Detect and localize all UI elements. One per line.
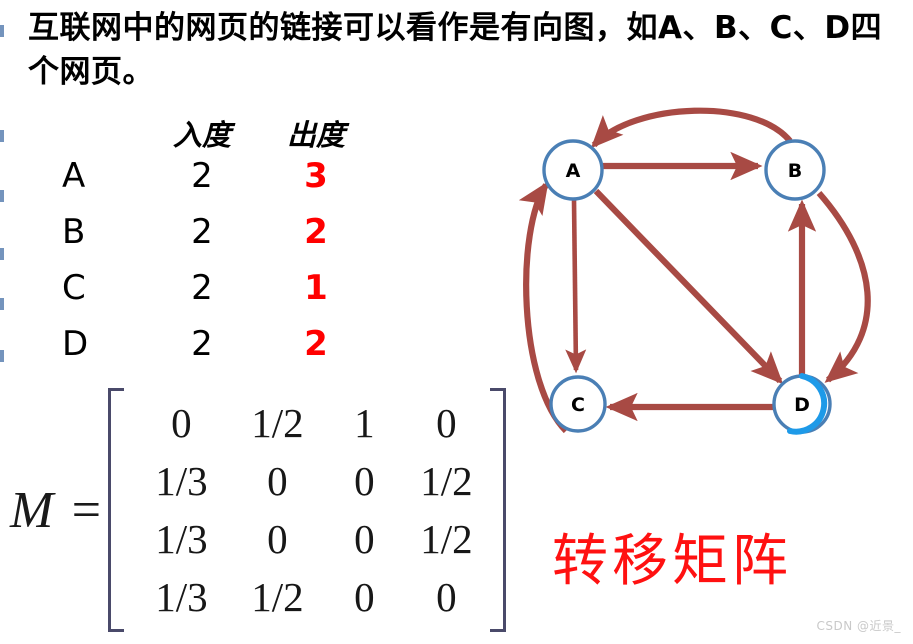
matrix-cell: 0 — [325, 568, 403, 626]
table-row: D 2 2 — [52, 324, 382, 380]
edge-tick — [0, 248, 4, 260]
matrix-cell: 1/2 — [403, 452, 489, 510]
matrix-cell: 0 — [133, 394, 229, 452]
degree-table: 入度 出度 A 2 3 B 2 2 C 2 1 D 2 2 — [52, 112, 382, 380]
edge-tick — [0, 190, 4, 202]
bracket-foot-right — [490, 629, 506, 632]
matrix-cell: 1 — [325, 394, 403, 452]
matrix-cell: 1/2 — [229, 394, 325, 452]
header-in-degree: 入度 — [148, 112, 256, 154]
cell-node: C — [52, 268, 148, 308]
cell-node: B — [52, 212, 148, 252]
graph-node-a[interactable]: A — [544, 141, 602, 199]
cell-out-degree: 2 — [256, 212, 376, 252]
cell-in-degree: 2 — [148, 156, 256, 196]
matrix-cell: 1/3 — [133, 568, 229, 626]
table-row: B 2 2 — [52, 212, 382, 268]
edge-tick — [0, 298, 4, 310]
matrix-cell: 0 — [229, 510, 325, 568]
table-row: A 2 3 — [52, 156, 382, 212]
matrix-cell: 0 — [325, 452, 403, 510]
matrix-cell: 1/2 — [403, 510, 489, 568]
matrix-cell: 0 — [403, 394, 489, 452]
edge-tick — [0, 25, 4, 37]
matrix-cell: 1/2 — [229, 568, 325, 626]
csdn-watermark: CSDN @近景_ — [816, 617, 901, 634]
matrix-cell: 0 — [229, 452, 325, 510]
table-row: C 2 1 — [52, 268, 382, 324]
node-label-c: C — [571, 394, 585, 416]
edge-a-to-c — [574, 200, 576, 370]
cell-in-degree: 2 — [148, 212, 256, 252]
matrix-grid: 0 1/2 1 0 1/3 0 0 1/2 1/3 0 0 1/2 1/3 1/… — [133, 394, 489, 626]
matrix-cell: 1/3 — [133, 510, 229, 568]
table-header-row: 入度 出度 — [52, 112, 382, 156]
transition-matrix: M = 0 1/2 1 0 1/3 0 0 1/2 1/3 0 0 1/2 1/… — [10, 388, 506, 632]
matrix-cell: 0 — [325, 510, 403, 568]
node-label-a: A — [566, 160, 581, 182]
graph-node-b[interactable]: B — [766, 141, 824, 199]
edge-b-to-a — [594, 111, 790, 145]
edge-b-to-d — [819, 193, 868, 380]
cell-in-degree: 2 — [148, 268, 256, 308]
cell-out-degree: 3 — [256, 156, 376, 196]
edge-tick — [0, 350, 4, 362]
cell-out-degree: 1 — [256, 268, 376, 308]
graph-node-d[interactable]: D — [774, 376, 830, 432]
header-out-degree: 出度 — [256, 112, 376, 154]
slide-canvas: 互联网中的网页的链接可以看作是有向图，如A、B、C、D四个网页。 入度 出度 A… — [0, 0, 913, 644]
matrix-cell: 1/3 — [133, 452, 229, 510]
matrix-cell: 0 — [403, 568, 489, 626]
node-label-d: D — [794, 394, 810, 416]
cell-out-degree: 2 — [256, 324, 376, 364]
cell-node: D — [52, 324, 148, 364]
transition-matrix-caption: 转移矩阵 — [552, 516, 792, 597]
directed-graph: A B C D — [490, 62, 910, 452]
cell-in-degree: 2 — [148, 324, 256, 364]
graph-node-c[interactable]: C — [551, 377, 605, 431]
edge-a-to-d — [596, 191, 780, 381]
node-label-b: B — [788, 160, 802, 182]
matrix-bracket: 0 1/2 1 0 1/3 0 0 1/2 1/3 0 0 1/2 1/3 1/… — [108, 388, 506, 632]
graph-svg: A B C D — [490, 62, 910, 452]
bracket-foot-left — [108, 629, 124, 632]
cell-node: A — [52, 156, 148, 196]
matrix-label: M = — [10, 481, 108, 540]
edge-tick — [0, 130, 4, 142]
